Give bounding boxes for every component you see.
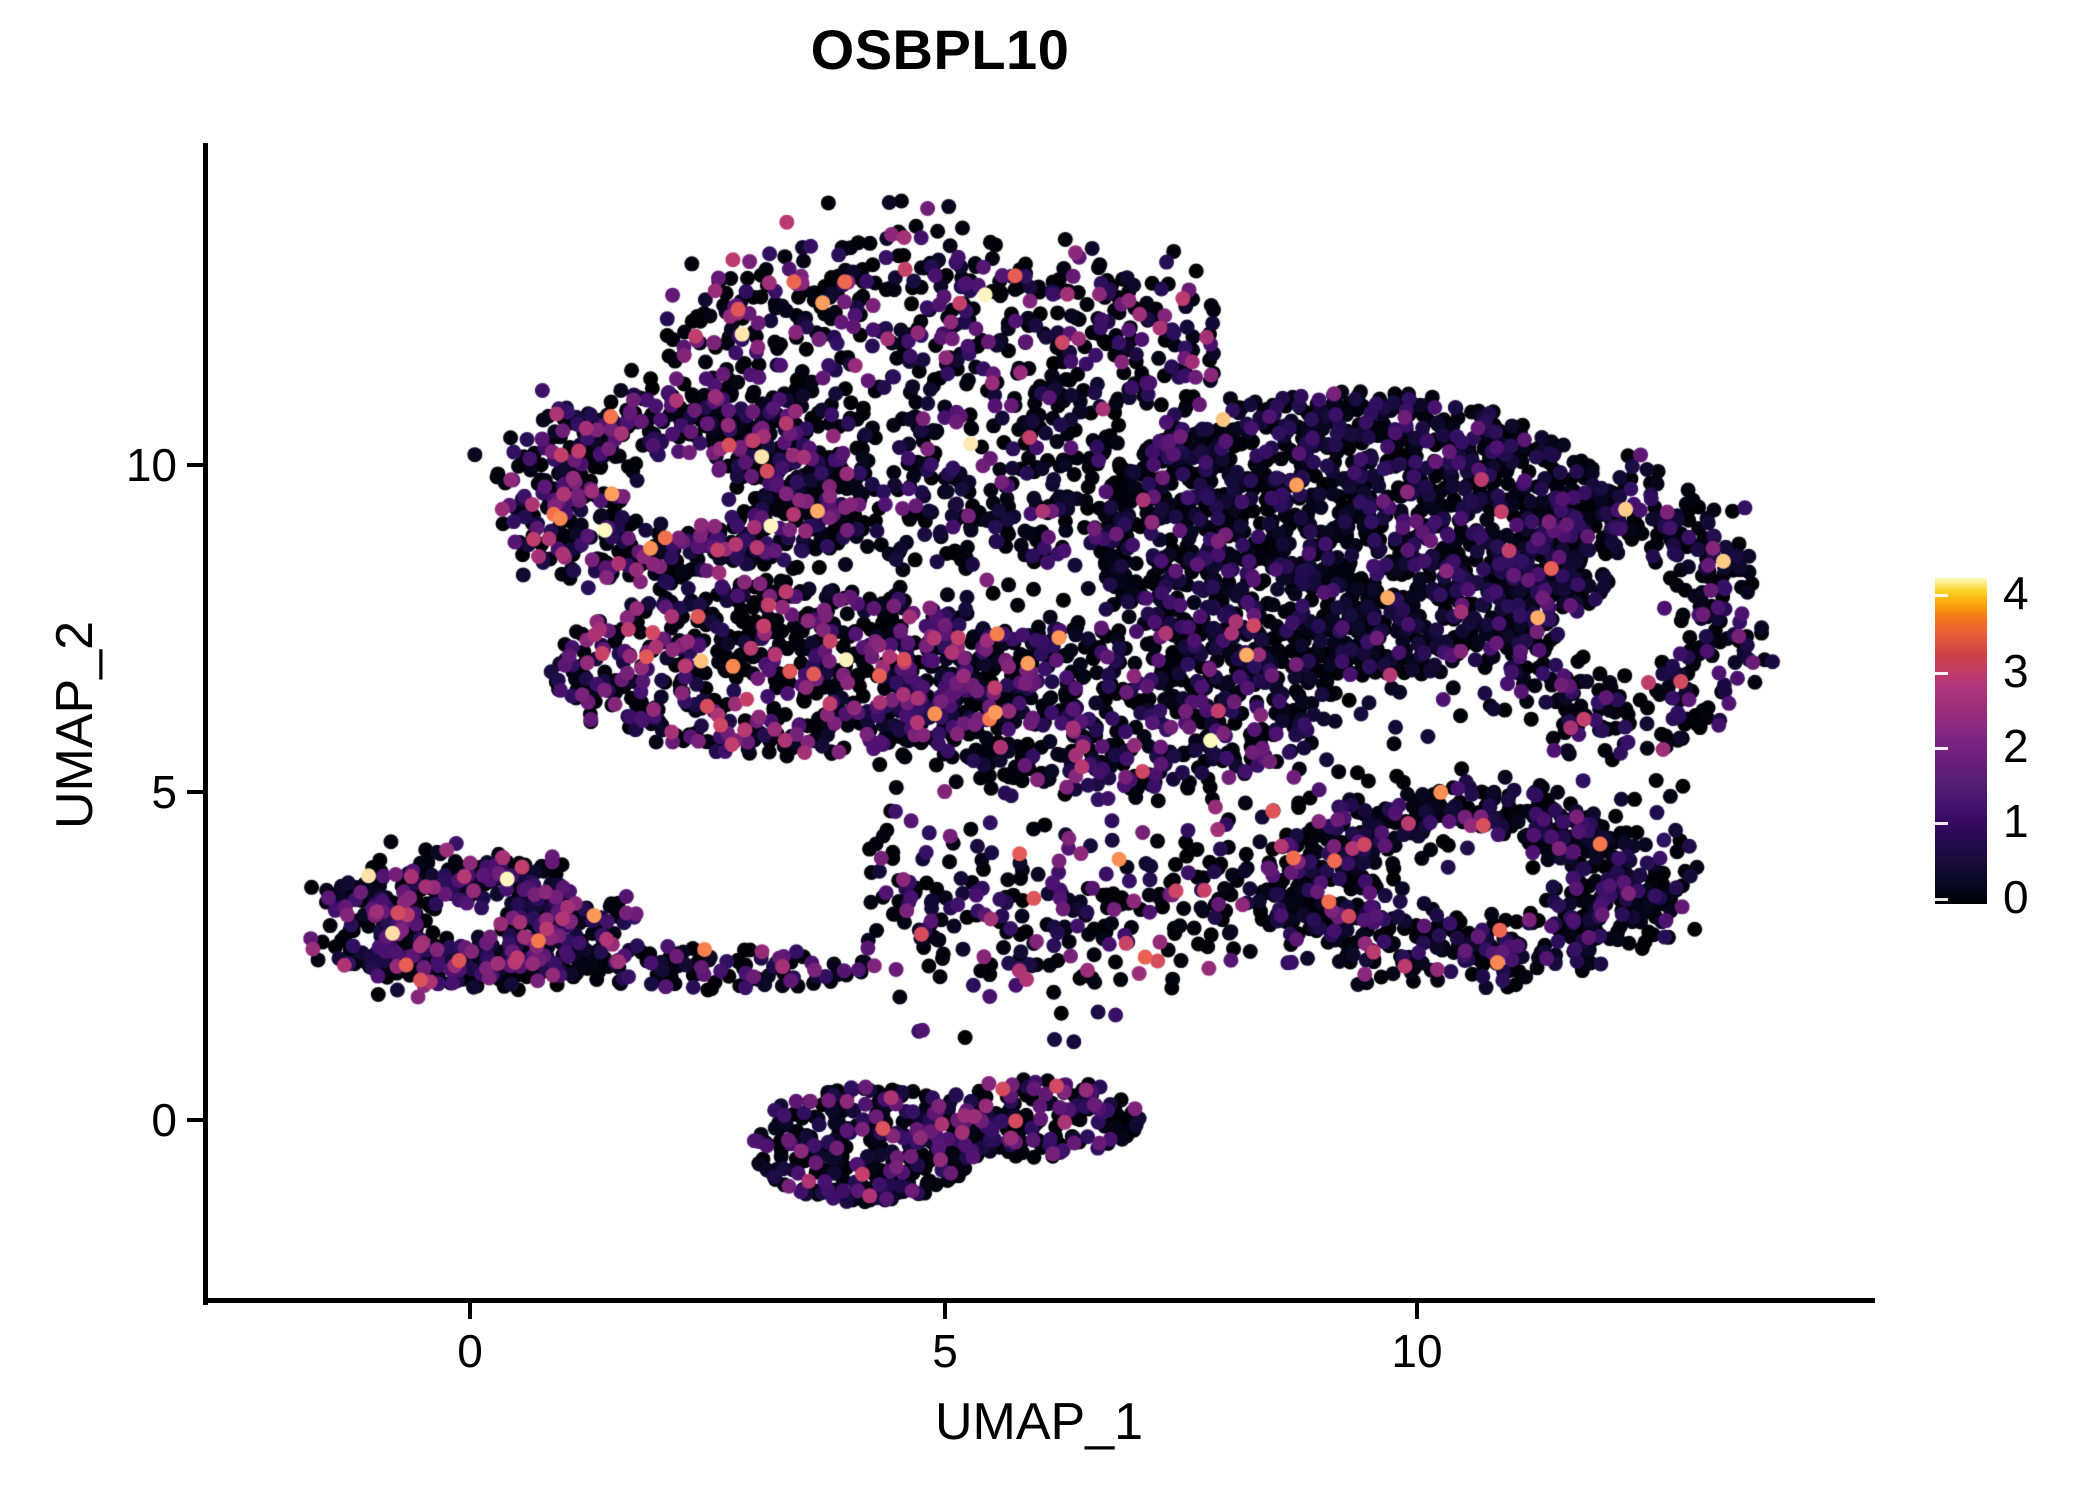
colorbar-label-3: 3 (2003, 648, 2029, 694)
x-axis-label: UMAP_1 (203, 1392, 1875, 1452)
x-tick-mark-10 (1415, 1303, 1419, 1319)
colorbar-legend: 4 3 2 1 0 (1935, 578, 2075, 904)
x-axis-line (203, 1298, 1875, 1303)
x-tick-label-0: 0 (390, 1324, 550, 1378)
colorbar-label-0: 0 (2003, 874, 2029, 920)
colorbar-tick-3-right (2062, 672, 2075, 675)
y-tick-mark-5 (187, 790, 203, 794)
x-tick-label-5: 5 (865, 1324, 1025, 1378)
y-tick-mark-10 (187, 463, 203, 467)
colorbar-tick-2-right (2062, 747, 2075, 750)
scatter-plot-canvas (0, 0, 2100, 1500)
x-tick-label-10: 10 (1337, 1324, 1497, 1378)
colorbar-tick-0-right (2062, 898, 2075, 901)
y-tick-mark-0 (187, 1118, 203, 1122)
y-axis-line (203, 143, 208, 1305)
colorbar-tick-4-right (2062, 594, 2075, 597)
colorbar-tick-0-left (1935, 898, 1948, 901)
colorbar-tick-1-left (1935, 822, 1948, 825)
colorbar-label-1: 1 (2003, 798, 2029, 844)
x-tick-mark-0 (468, 1303, 472, 1319)
colorbar-label-4: 4 (2003, 570, 2029, 616)
colorbar-tick-1-right (2062, 822, 2075, 825)
y-tick-label-0: 0 (27, 1093, 177, 1147)
umap-feature-plot: OSBPL10 0 5 10 10 5 0 UMAP_1 UMAP_2 4 3 … (0, 0, 2100, 1500)
x-tick-mark-5 (943, 1303, 947, 1319)
y-axis-label: UMAP_2 (45, 375, 105, 1075)
colorbar-gradient (1935, 578, 1987, 904)
colorbar-tick-4-left (1935, 594, 1948, 597)
colorbar-tick-3-left (1935, 672, 1948, 675)
colorbar-label-2: 2 (2003, 723, 2029, 769)
colorbar-tick-2-left (1935, 747, 1948, 750)
